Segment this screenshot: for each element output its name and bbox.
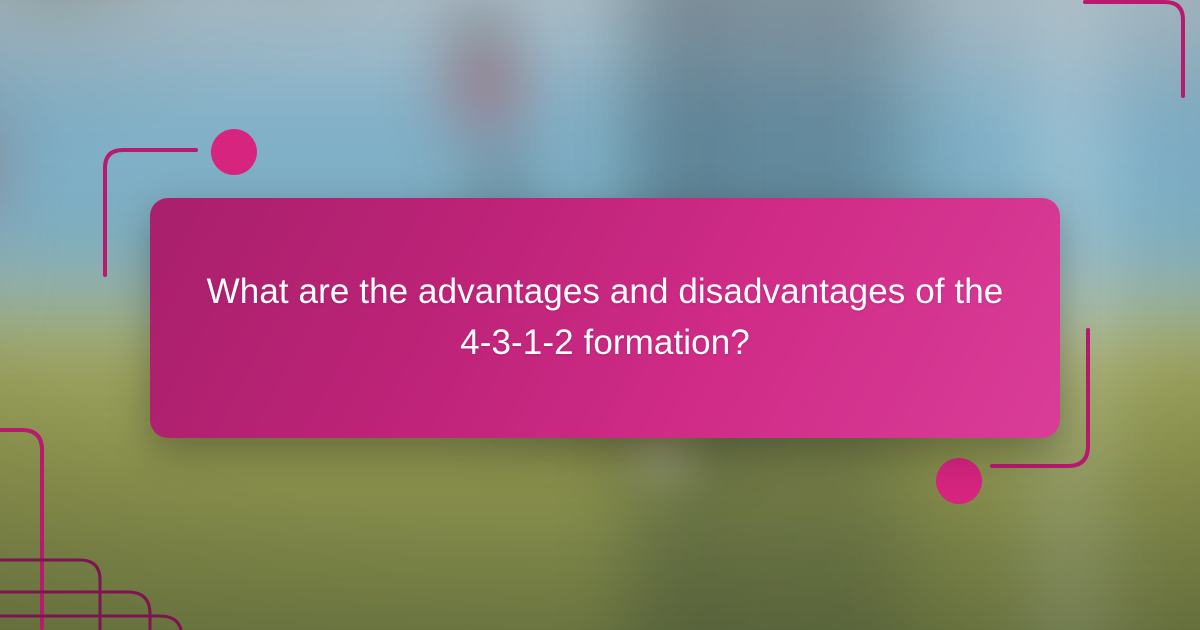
card-title: What are the advantages and disadvantage… [196,267,1014,369]
share-card-canvas: What are the advantages and disadvantage… [0,0,1200,630]
title-card: What are the advantages and disadvantage… [150,198,1060,438]
